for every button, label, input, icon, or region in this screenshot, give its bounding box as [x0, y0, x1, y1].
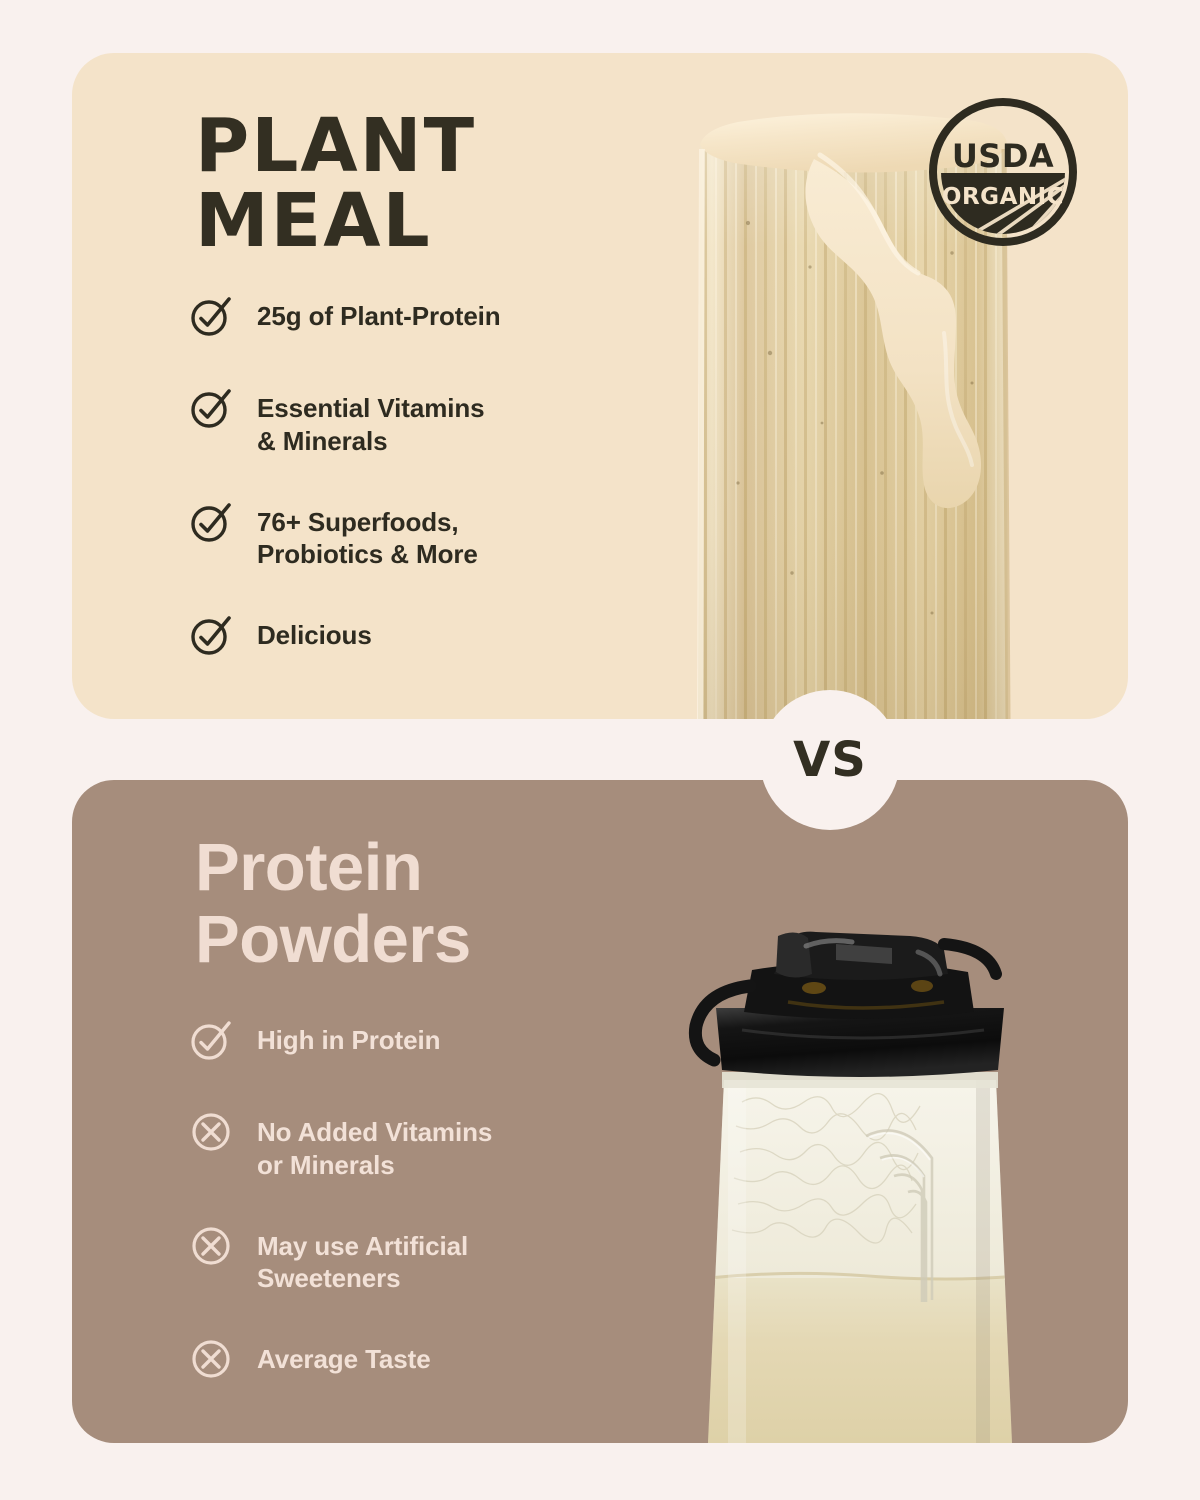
- check-icon: [187, 498, 235, 546]
- check-icon: [187, 384, 235, 432]
- list-item: Average Taste: [187, 1339, 492, 1387]
- protein-powders-title: Protein Powders: [195, 832, 471, 977]
- plant-meal-panel: PLANT MEAL USDA: [72, 53, 1128, 719]
- usda-organic-icon: USDA ORGANIC: [926, 95, 1080, 249]
- protein-powder-product-image: [592, 930, 1128, 1443]
- protein-powders-feature-list: High in Protein No Added Vitamins or Min…: [187, 1020, 492, 1431]
- feature-label: Average Taste: [257, 1339, 431, 1376]
- feature-label: High in Protein: [257, 1020, 440, 1057]
- cross-icon: [187, 1222, 235, 1270]
- plant-meal-title: PLANT MEAL: [195, 109, 476, 260]
- cross-icon: [187, 1108, 235, 1156]
- cross-icon: [187, 1335, 235, 1383]
- feature-label: Delicious: [257, 615, 372, 652]
- feature-label: May use Artificial Sweeteners: [257, 1226, 468, 1296]
- list-item: 76+ Superfoods, Probiotics & More: [187, 502, 501, 572]
- vs-badge: VS: [760, 690, 900, 830]
- feature-label: Essential Vitamins & Minerals: [257, 388, 485, 458]
- list-item: High in Protein: [187, 1020, 492, 1068]
- check-icon: [187, 292, 235, 340]
- vs-label: VS: [793, 732, 867, 788]
- plant-meal-feature-list: 25g of Plant-Protein Essential Vitamins …: [187, 296, 501, 707]
- protein-powders-panel: Protein Powders High in Protein: [72, 780, 1128, 1443]
- list-item: May use Artificial Sweeteners: [187, 1226, 492, 1296]
- list-item: Delicious: [187, 615, 501, 663]
- list-item: 25g of Plant-Protein: [187, 296, 501, 344]
- feature-label: 25g of Plant-Protein: [257, 296, 501, 333]
- feature-label: No Added Vitamins or Minerals: [257, 1112, 492, 1182]
- check-icon: [187, 611, 235, 659]
- comparison-infographic: PLANT MEAL USDA: [0, 0, 1200, 1500]
- usda-top-text: USDA: [952, 137, 1054, 175]
- check-icon: [187, 1016, 235, 1064]
- usda-bottom-text: ORGANIC: [942, 184, 1064, 210]
- list-item: Essential Vitamins & Minerals: [187, 388, 501, 458]
- feature-label: 76+ Superfoods, Probiotics & More: [257, 502, 478, 572]
- list-item: No Added Vitamins or Minerals: [187, 1112, 492, 1182]
